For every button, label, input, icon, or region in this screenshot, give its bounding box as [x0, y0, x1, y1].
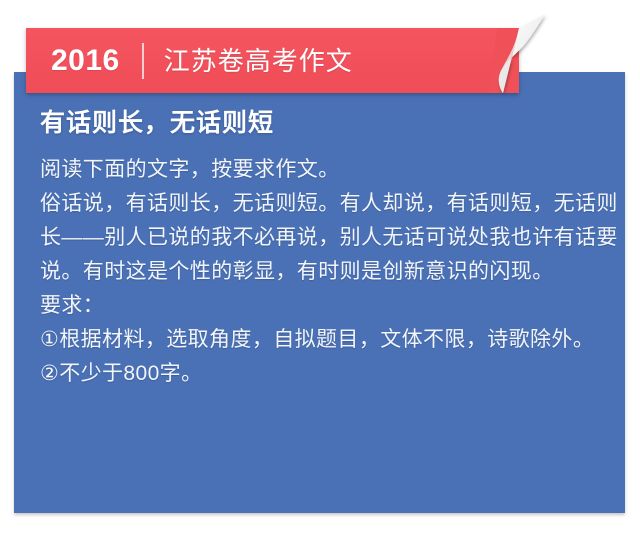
ribbon-divider: [142, 43, 144, 79]
essay-paragraph: ②不少于800字。: [40, 357, 618, 391]
ribbon-label: 江苏卷高考作文: [164, 48, 353, 74]
poster-root: 2016 江苏卷高考作文 有话则长，无话则短 阅读下面的文字，按要求作文。 俗话…: [0, 0, 640, 544]
ribbon-year: 2016: [51, 46, 120, 76]
essay-paragraph: 俗话说，有话则长，无话则短。有人却说，有话则短，无话则长——别人已说的我不必再说…: [40, 187, 618, 289]
essay-block: 有话则长，无话则短 阅读下面的文字，按要求作文。 俗话说，有话则长，无话则短。有…: [40, 108, 618, 391]
essay-paragraph: 阅读下面的文字，按要求作文。: [40, 153, 618, 187]
essay-paragraph: 要求：: [40, 289, 618, 323]
ribbon-content: 2016 江苏卷高考作文: [26, 28, 521, 94]
essay-paragraph: ①根据材料，选取角度，自拟题目，文体不限，诗歌除外。: [40, 323, 618, 357]
essay-title: 有话则长，无话则短: [40, 108, 618, 139]
